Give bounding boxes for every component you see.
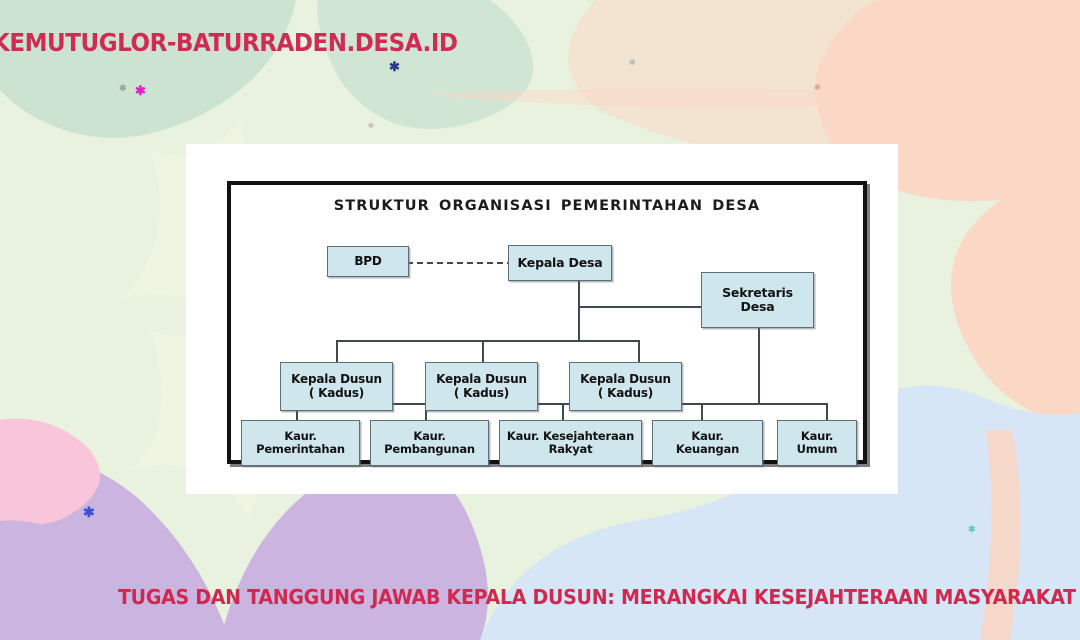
edge-kadus1-drop [336, 340, 338, 362]
org-chart-frame: STRUKTUR ORGANISASI PEMERINTAHAN DESA [227, 181, 867, 464]
edge-sekdes-stem [758, 328, 760, 404]
node-kepala-dusun-1[interactable]: Kepala Dusun ( Kadus) [280, 362, 393, 411]
chart-title: STRUKTUR ORGANISASI PEMERINTAHAN DESA [231, 198, 863, 214]
node-kaur-keuangan[interactable]: Kaur. Keuangan [652, 420, 763, 466]
edge-kaur4-drop [701, 403, 703, 420]
article-caption: TUGAS DAN TANGGUNG JAWAB KEPALA DUSUN: M… [118, 585, 1080, 609]
edge-kades-stem [578, 281, 580, 341]
node-bpd[interactable]: BPD [327, 246, 409, 277]
edge-kadus-bus [336, 340, 639, 342]
edge-bpd-kades [397, 262, 513, 264]
node-kepala-dusun-2[interactable]: Kepala Dusun ( Kadus) [425, 362, 538, 411]
image-card: STRUKTUR ORGANISASI PEMERINTAHAN DESA [186, 144, 898, 494]
node-kaur-umum[interactable]: Kaur. Umum [777, 420, 857, 466]
node-kaur-pemerintahan[interactable]: Kaur. Pemerintahan [241, 420, 360, 466]
edge-kades-sekdes [578, 306, 704, 308]
edge-kaur5-drop [826, 403, 828, 420]
page-root: KEMUTUGLOR-BATURRADEN.DESA.ID ✱✱✱✱✱✱✱✱✱✱… [0, 0, 1080, 640]
node-kaur-pembangunan[interactable]: Kaur. Pembangunan [370, 420, 489, 466]
edge-kadus3-drop [638, 340, 640, 362]
node-kepala-dusun-3[interactable]: Kepala Dusun ( Kadus) [569, 362, 682, 411]
node-sekretaris-desa[interactable]: Sekretaris Desa [701, 272, 814, 328]
edge-kaur3-drop [562, 403, 564, 420]
org-chart: STRUKTUR ORGANISASI PEMERINTAHAN DESA [231, 185, 863, 460]
site-title: KEMUTUGLOR-BATURRADEN.DESA.ID [0, 28, 458, 57]
edge-kadus2-drop [482, 340, 484, 362]
node-kaur-kesejahteraan-rakyat[interactable]: Kaur. Kesejahteraan Rakyat [499, 420, 642, 466]
node-kepala-desa[interactable]: Kepala Desa [508, 245, 612, 281]
